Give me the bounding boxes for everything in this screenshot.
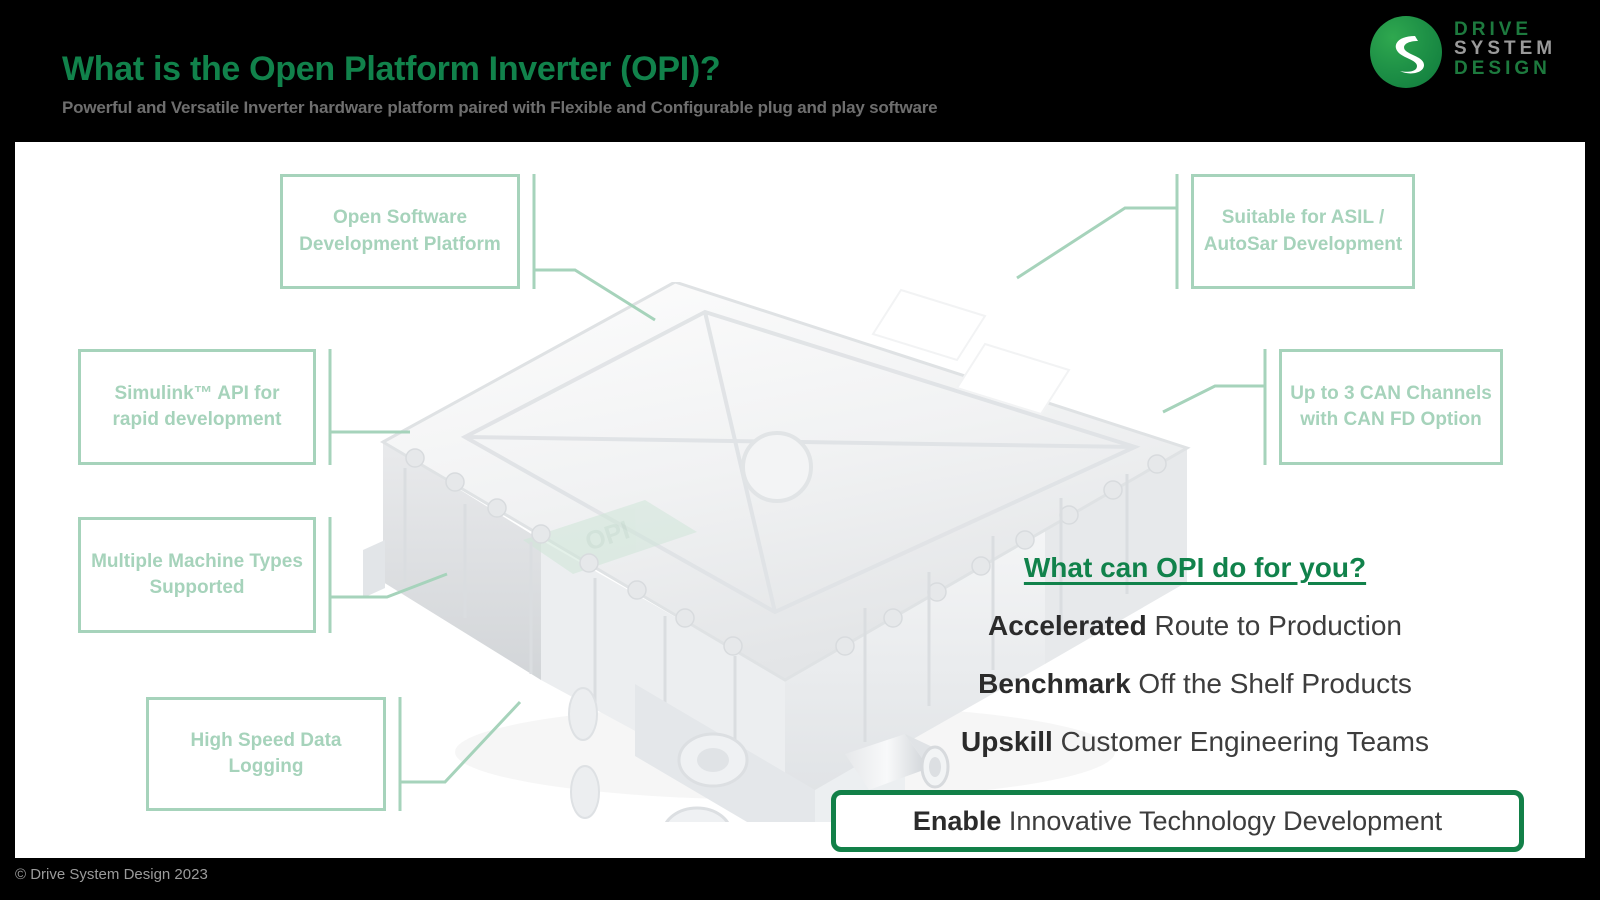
benefit-benchmark-rest: Off the Shelf Products	[1131, 668, 1412, 699]
logo-line-drive: DRIVE	[1454, 20, 1556, 39]
logo-line-design: DESIGN	[1454, 59, 1556, 78]
company-logo: DRIVE SYSTEM DESIGN	[1370, 12, 1590, 92]
page-subtitle: Powerful and Versatile Inverter hardware…	[62, 98, 937, 118]
benefit-accelerated: Accelerated Route to Production	[825, 610, 1565, 642]
callout-asil-autosar-development[interactable]: Suitable for ASIL / AutoSar Development	[1191, 174, 1415, 289]
benefit-enable-highlight-box[interactable]: Enable Innovative Technology Development	[831, 790, 1524, 852]
logo-wordmark: DRIVE SYSTEM DESIGN	[1454, 20, 1556, 78]
dsd-circle-s-icon	[1370, 16, 1442, 88]
callout-open-software-development-platform[interactable]: Open Software Development Platform	[280, 174, 520, 289]
logo-line-system: SYSTEM	[1454, 39, 1556, 58]
benefits-heading: What can OPI do for you?	[825, 552, 1565, 584]
callout-simulink-api[interactable]: Simulink™ API for rapid development	[78, 349, 316, 465]
page-title: What is the Open Platform Inverter (OPI)…	[62, 50, 720, 89]
benefit-upskill-rest: Customer Engineering Teams	[1053, 726, 1429, 757]
benefit-benchmark: Benchmark Off the Shelf Products	[825, 668, 1565, 700]
benefit-upskill-strong: Upskill	[961, 726, 1053, 757]
callout-can-channels[interactable]: Up to 3 CAN Channels with CAN FD Option	[1279, 349, 1503, 465]
page-header: What is the Open Platform Inverter (OPI)…	[0, 0, 1600, 142]
benefit-enable-rest: Innovative Technology Development	[1001, 806, 1442, 836]
content-panel: OPI	[15, 142, 1585, 858]
callout-multiple-machine-types[interactable]: Multiple Machine Types Supported	[78, 517, 316, 633]
footer-copyright: © Drive System Design 2023	[15, 866, 208, 883]
benefit-enable-strong: Enable	[913, 806, 1002, 836]
benefit-benchmark-strong: Benchmark	[978, 668, 1131, 699]
callout-high-speed-data-logging[interactable]: High Speed Data Logging	[146, 697, 386, 811]
benefit-upskill: Upskill Customer Engineering Teams	[825, 726, 1565, 758]
benefits-block: What can OPI do for you? Accelerated Rou…	[825, 552, 1565, 784]
benefit-enable: Enable Innovative Technology Development	[913, 806, 1442, 837]
benefit-accelerated-rest: Route to Production	[1147, 610, 1402, 641]
benefit-accelerated-strong: Accelerated	[988, 610, 1147, 641]
